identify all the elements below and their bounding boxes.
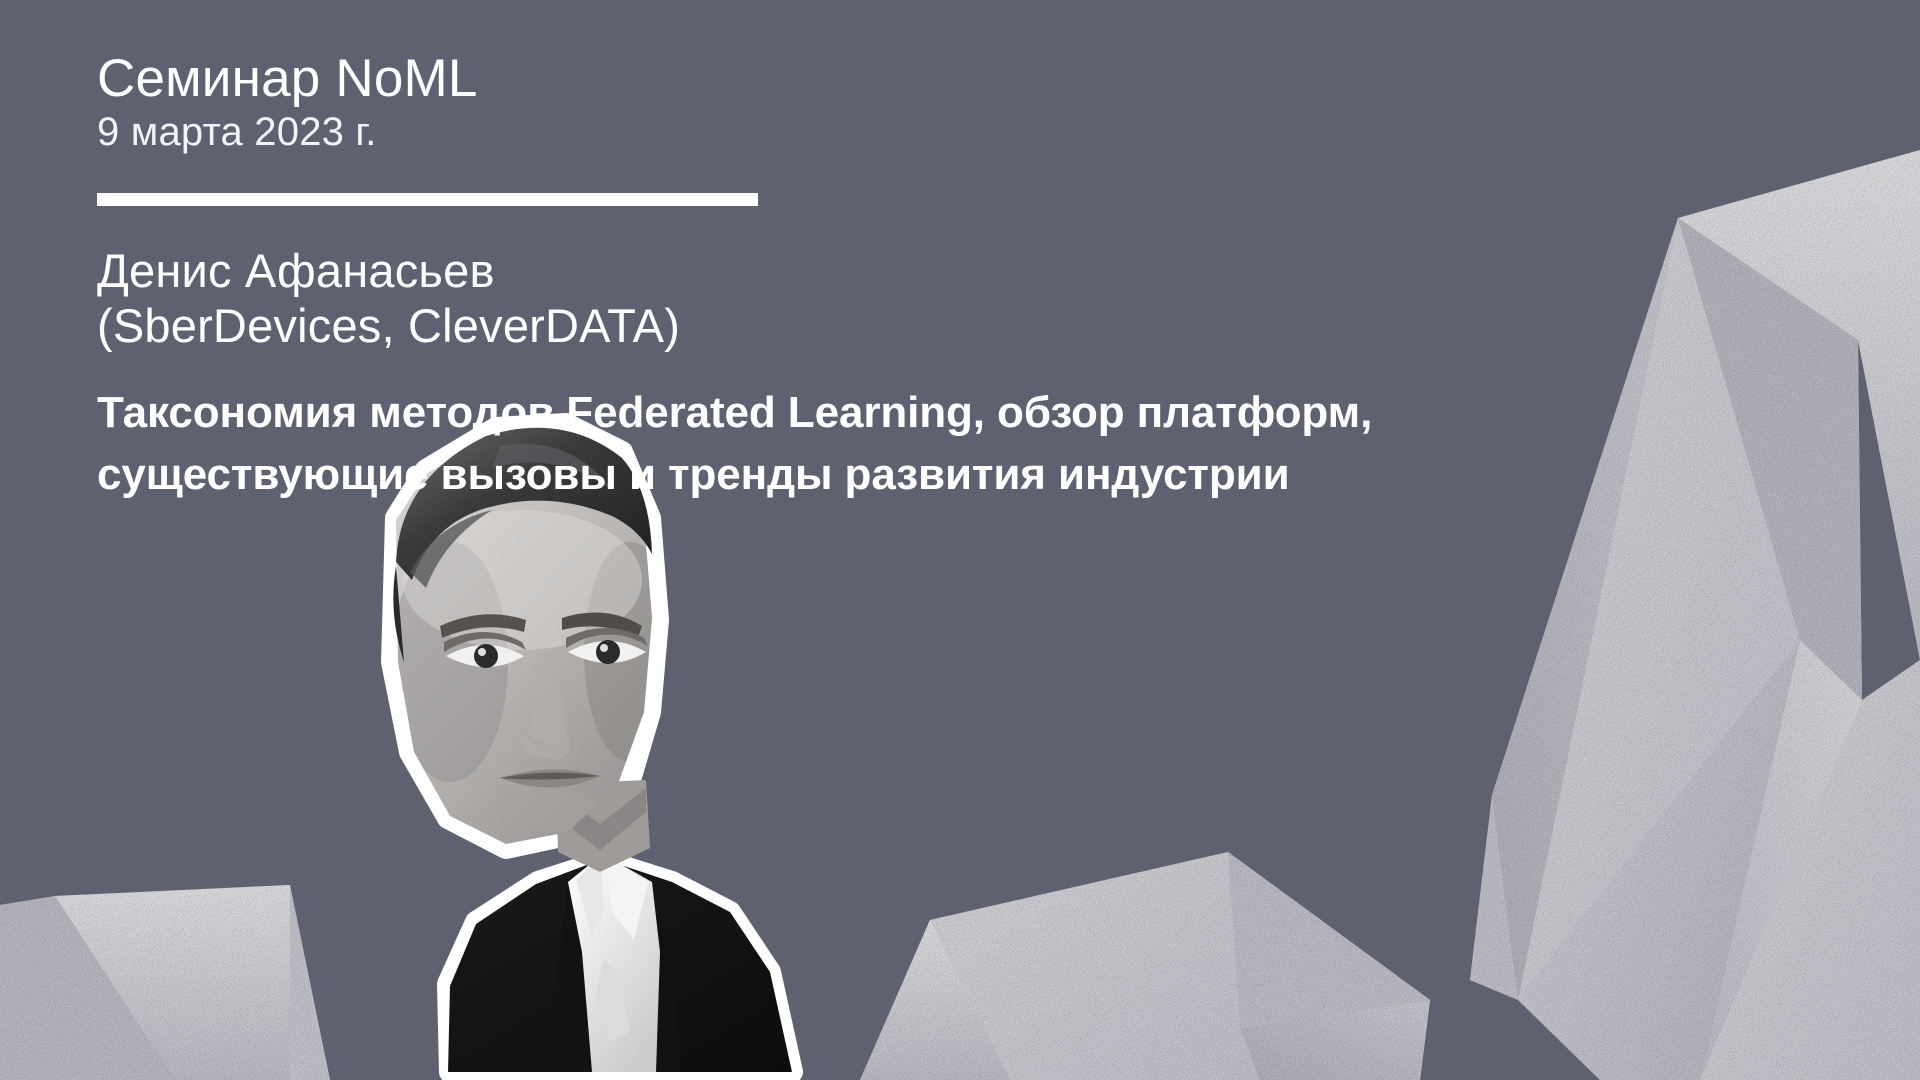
talk-title: Таксономия методов Federated Learning, о… <box>97 382 1372 506</box>
polyhedron-bottom <box>860 852 1430 1080</box>
polyhedron-right <box>1470 150 1920 1080</box>
seminar-title: Семинар NoML <box>97 48 478 109</box>
background-decoration <box>0 0 1920 1080</box>
presentation-slide: Семинар NoML 9 марта 2023 г. Денис Афана… <box>0 0 1920 1080</box>
talk-title-line-1: Таксономия методов Federated Learning, о… <box>97 382 1372 444</box>
speaker-photo <box>300 412 920 1080</box>
speaker-organizations: (SberDevices, CleverDATA) <box>97 297 680 354</box>
horizontal-rule-divider <box>97 193 758 206</box>
talk-title-line-2: существующие вызовы и тренды развития ин… <box>97 444 1372 506</box>
seminar-date: 9 марта 2023 г. <box>97 108 377 156</box>
speaker-name: Денис Афанасьев <box>97 242 495 299</box>
polyhedron-left <box>0 885 330 1080</box>
